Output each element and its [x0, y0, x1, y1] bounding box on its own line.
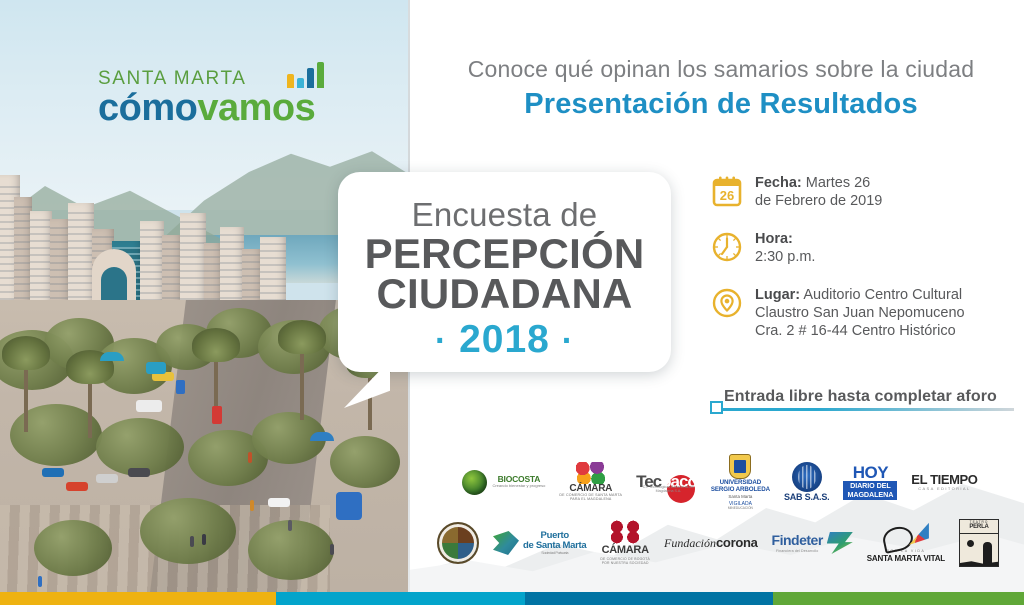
- findeter-text: Findeter: [772, 532, 823, 548]
- vigilada-sub: MINEDUCACIÓN: [728, 507, 753, 510]
- puerto-sub: Sociedad Portuaria: [523, 551, 586, 555]
- findeter-sub: Financiera del Desarrollo: [772, 550, 823, 554]
- detail-value-hora: 2:30 p.m.: [755, 249, 815, 265]
- puerto-line2: de Santa Marta: [523, 540, 586, 551]
- sponsor-row-2: Puerto de Santa Marta Sociedad Portuaria…: [410, 512, 1024, 574]
- strip-yellow: [0, 592, 276, 605]
- detail-value-lugar-3: Cra. 2 # 16-44 Centro Histórico: [755, 323, 956, 339]
- detail-value-lugar-1: Auditorio Centro Cultural: [800, 287, 962, 303]
- poster: SANTA MARTA cómovamos Encuesta de PERCEP…: [0, 0, 1024, 605]
- camara-santa-marta-sub2: PARA EL MAGDALENA: [570, 498, 612, 502]
- detail-label-lugar: Lugar:: [755, 287, 800, 303]
- sponsor-fundacion-corona: Fundacióncorona: [664, 536, 758, 550]
- sponsor-row-1: BIOCOSTA Creando bienestar y progreso CÁ…: [410, 452, 1024, 512]
- detail-text-hora: Hora: 2:30 p.m.: [755, 228, 815, 267]
- brand-logo: SANTA MARTA cómovamos: [98, 62, 324, 129]
- sergio-arboleda-shield-icon: [729, 454, 751, 479]
- sponsor-el-tiempo: EL TIEMPO CASA EDITORIAL: [911, 473, 977, 491]
- strip-dark-blue: [525, 592, 773, 605]
- bubble-line-2: PERCEPCIÓN: [338, 233, 671, 275]
- header-title: Presentación de Resultados: [432, 88, 1010, 121]
- teatro-ground-shape: [960, 560, 998, 566]
- calendar-icon: 26: [710, 174, 744, 208]
- header-subtitle: Conoce qué opinan los samarios sobre la …: [432, 56, 1010, 84]
- el-tiempo-label: EL TIEMPO: [911, 473, 977, 487]
- sab-sas-label: SAB S.A.S.: [784, 493, 830, 502]
- sponsor-sab-sas: SAB S.A.S.: [784, 462, 830, 502]
- sponsor-santa-marta-vital: POR LA VIDA SANTA MARTA VITAL: [867, 523, 945, 563]
- detail-row-hora: Hora: 2:30 p.m.: [710, 228, 1020, 267]
- santa-marta-vital-label: SANTA MARTA VITAL: [867, 555, 945, 563]
- entrada-underline: [710, 408, 1014, 411]
- skyline: [0, 175, 310, 315]
- detail-row-lugar: Lugar: Auditorio Centro Cultural Claustr…: [710, 284, 1020, 341]
- camara-bogota-icon: [608, 520, 642, 544]
- calendar-day-number: 26: [720, 188, 734, 203]
- corona-script-text: Fundación: [664, 537, 716, 550]
- teatro-figure-shape: [983, 542, 992, 564]
- detail-label-fecha: Fecha:: [755, 175, 802, 191]
- entrada-libre-block: Entrada libre hasta completar aforo: [710, 388, 1014, 411]
- sponsor-hoy-diario-magdalena: HOY DIARIO DEL MAGDALENA: [843, 464, 897, 500]
- entrada-square-bullet: [710, 401, 723, 414]
- location-pin-icon: [710, 286, 744, 320]
- sponsor-teatro-la-perla: TEATRO PERLA: [959, 519, 999, 567]
- puerto-wave-icon: [493, 531, 519, 555]
- teatro-la-perla-poster-icon: TEATRO PERLA: [959, 519, 999, 567]
- detail-text-fecha: Fecha: Martes 26 de Febrero de 2019: [755, 172, 882, 211]
- camara-bogota-sub2: POR NUESTRA SOCIEDAD: [602, 562, 649, 566]
- title-speech-bubble: Encuesta de PERCEPCIÓN CIUDADANA · 2018 …: [338, 172, 671, 372]
- sergio-arboleda-line2: SERGIO ARBOLEDA: [711, 487, 770, 494]
- sergio-arboleda-city: Santa Marta: [728, 495, 752, 500]
- detail-text-lugar: Lugar: Auditorio Centro Cultural Claustr…: [755, 284, 965, 341]
- detail-value-lugar-2: Claustro San Juan Nepomuceno: [755, 305, 965, 321]
- detail-value-fecha-2: de Febrero de 2019: [755, 193, 882, 209]
- bubble-line-1: Encuesta de: [338, 198, 671, 233]
- sergio-arboleda-vigilada: VIGILADA MINEDUCACIÓN: [728, 502, 753, 511]
- bubble-year: · 2018 ·: [338, 318, 671, 362]
- puerto-label: Puerto de Santa Marta Sociedad Portuaria: [523, 531, 586, 555]
- sponsor-universidad-sergio-arboleda: UNIVERSIDAD SERGIO ARBOLEDA Santa Marta …: [711, 454, 770, 510]
- brand-logo-como: cómo: [98, 87, 197, 129]
- hoy-line3: MAGDALENA: [847, 491, 893, 499]
- universidad-magdalena-seal-icon: [437, 522, 479, 564]
- bar-chart-icon: [287, 62, 324, 88]
- brand-logo-line2: cómovamos: [98, 89, 315, 129]
- detail-label-hora: Hora:: [755, 231, 793, 247]
- biocosta-globe-icon: [462, 470, 487, 495]
- sponsor-tecbaco: Tecbaco C.I. Tecnológicas Bananeras del …: [636, 473, 697, 491]
- teatro-la-perla-title: TEATRO PERLA: [960, 520, 998, 534]
- year-dot-left: ·: [435, 322, 447, 360]
- sponsor-camara-comercio-bogota: CÁMARA DE COMERCIO DE BOGOTÁ POR NUESTRA…: [600, 520, 650, 566]
- findeter-label: Findeter Financiera del Desarrollo: [772, 533, 823, 554]
- brand-logo-vamos: vamos: [197, 87, 315, 129]
- entrada-libre-text: Entrada libre hasta completar aforo: [710, 388, 1014, 406]
- year-dot-right: ·: [562, 322, 574, 360]
- header-block: Conoce qué opinan los samarios sobre la …: [432, 56, 1010, 121]
- sponsor-camara-santa-marta: CÁMARA DE COMERCIO DE SANTA MARTA PARA E…: [559, 462, 622, 502]
- strip-light-blue: [276, 592, 525, 605]
- year-value: 2018: [459, 318, 550, 361]
- brand-logo-line1: SANTA MARTA: [98, 69, 247, 88]
- footer-color-strip: [0, 592, 1024, 605]
- bubble-line-3: CIUDADANA: [338, 273, 671, 315]
- biocosta-tagline: Creando bienestar y progreso: [492, 484, 545, 488]
- santa-marta-vital-icon: [883, 523, 929, 549]
- teatro-sun-shape: [967, 540, 974, 547]
- sponsor-universidad-del-magdalena: [437, 522, 479, 564]
- sab-sas-icon: [792, 462, 822, 492]
- findeter-arrow-icon: [827, 532, 853, 554]
- detail-value-fecha-1: Martes 26: [802, 175, 871, 191]
- camara-santa-marta-icon: [576, 462, 606, 484]
- sponsor-logos: BIOCOSTA Creando bienestar y progreso CÁ…: [410, 452, 1024, 582]
- biocosta-label: BIOCOSTA Creando bienestar y progreso: [492, 475, 545, 488]
- sponsor-puerto-de-santa-marta: Puerto de Santa Marta Sociedad Portuaria: [493, 531, 586, 555]
- tecbaco-sub: C.I. Tecnológicas Bananeras del Magdalen…: [640, 486, 697, 494]
- teatro-la-perla-name: PERLA: [969, 524, 988, 530]
- el-tiempo-sub: CASA EDITORIAL: [918, 487, 970, 491]
- event-details: 26 Fecha: Martes 26 de Febrero de 2019: [710, 172, 1020, 341]
- strip-green: [773, 592, 1024, 605]
- clock-icon: [710, 230, 744, 264]
- sponsor-findeter: Findeter Financiera del Desarrollo: [772, 532, 853, 554]
- hoy-wordmark: HOY: [853, 464, 888, 481]
- camara-bogota-label: CÁMARA: [602, 545, 649, 557]
- sponsor-biocosta: BIOCOSTA Creando bienestar y progreso: [462, 470, 545, 495]
- hoy-banner: DIARIO DEL MAGDALENA: [843, 481, 897, 500]
- detail-row-fecha: 26 Fecha: Martes 26 de Febrero de 2019: [710, 172, 1020, 211]
- corona-bold-text: corona: [716, 536, 758, 550]
